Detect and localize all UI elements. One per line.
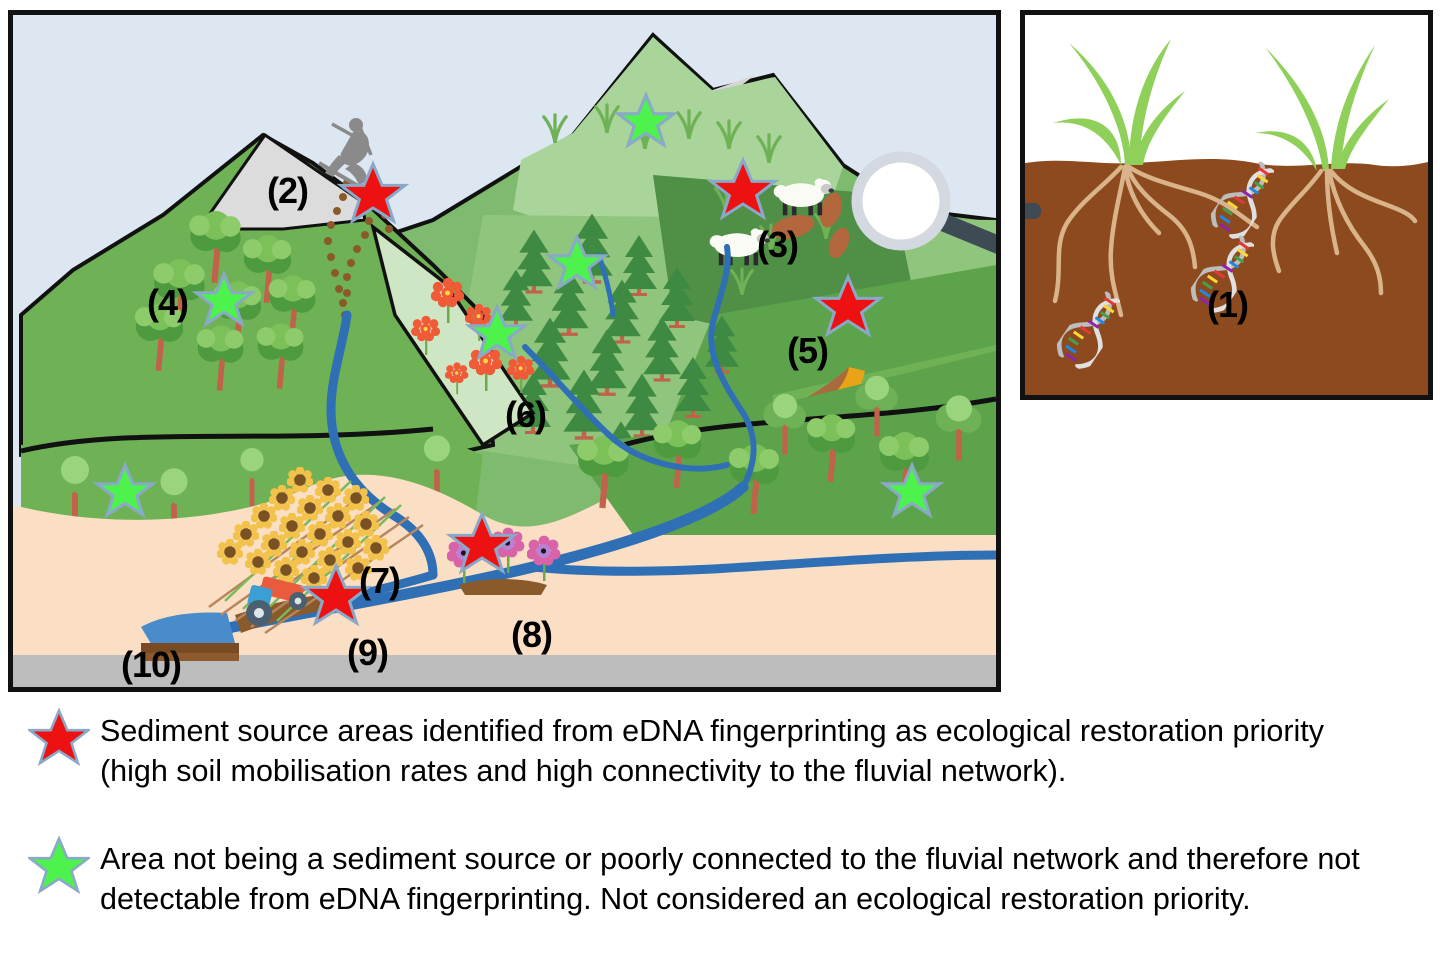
legend-text-red: Sediment source areas identified from eD…	[100, 712, 1400, 791]
figure-root: (2) (4) (3) (5) (6) (7) (8) (9) (10)	[0, 0, 1440, 973]
magnifier-handle-stub	[1025, 203, 1041, 219]
legend-text-green: Area not being a sediment source or poor…	[100, 840, 1400, 919]
soil-edna-inset-panel: (1)	[1020, 10, 1433, 400]
catchment-landscape-panel: (2) (4) (3) (5) (6) (7) (8) (9) (10)	[8, 10, 1001, 692]
green-star-icon	[28, 836, 90, 898]
legend-item-red-star: Sediment source areas identified from eD…	[28, 712, 1400, 791]
legend: Sediment source areas identified from eD…	[8, 700, 1432, 968]
red-star-icon	[28, 708, 90, 770]
soil-edna-illustration	[1025, 15, 1428, 395]
legend-item-green-star: Area not being a sediment source or poor…	[28, 840, 1400, 919]
landscape-illustration	[13, 15, 996, 687]
